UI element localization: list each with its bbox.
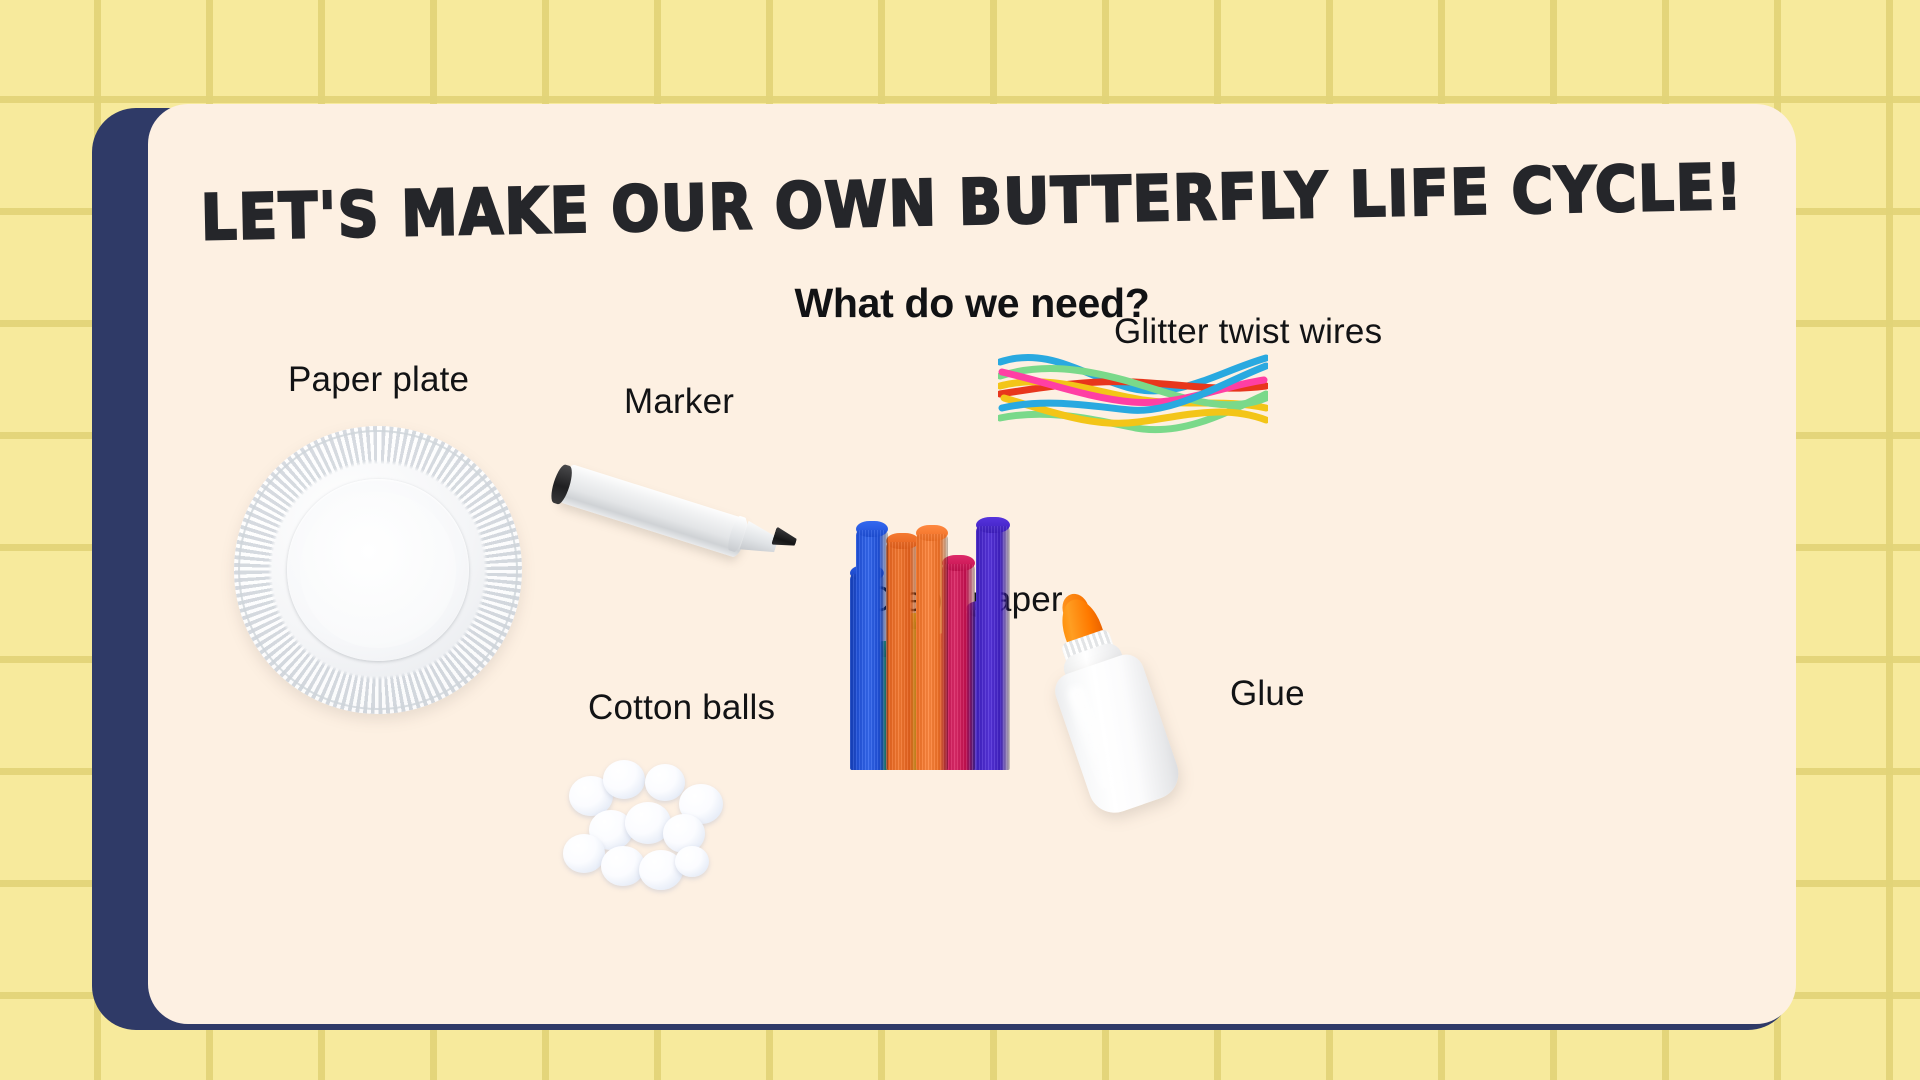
paper-plate-image (234, 426, 522, 714)
label-glue: Glue (1230, 674, 1305, 714)
glue-bottle-image (1038, 604, 1218, 814)
wires-svg (998, 336, 1268, 444)
cotton-ball (603, 760, 645, 799)
cotton-ball (675, 846, 709, 877)
page-title: LET'S MAKE OUR OWN BUTTERFLY LIFE CYCLE! (148, 149, 1796, 255)
glue-rotation-wrapper (1009, 580, 1248, 837)
crepe-paper-roll (886, 542, 919, 770)
crepe-paper-roll (916, 534, 948, 770)
crepe-paper-roll (976, 526, 1010, 770)
label-paper-plate: Paper plate (288, 360, 469, 400)
marker-image (548, 436, 798, 546)
crepe-roll-top (976, 517, 1010, 533)
cotton-balls-image (555, 754, 745, 904)
marker-barrel (556, 463, 751, 559)
plate-inner-base (300, 492, 456, 648)
slide-card: LET'S MAKE OUR OWN BUTTERFLY LIFE CYCLE!… (148, 104, 1796, 1024)
glue-bottle-body (1050, 650, 1185, 820)
crepe-roll-top (856, 521, 888, 537)
label-marker: Marker (624, 382, 734, 422)
section-subtitle: What do we need? (148, 280, 1796, 327)
cotton-ball (563, 834, 605, 873)
crepe-roll-top (886, 533, 919, 549)
label-cotton-balls: Cotton balls (588, 688, 775, 728)
cotton-ball (645, 764, 685, 801)
glitter-twist-wires-image (998, 336, 1268, 444)
crepe-roll-top (916, 525, 948, 541)
crepe-paper-roll (856, 530, 888, 770)
